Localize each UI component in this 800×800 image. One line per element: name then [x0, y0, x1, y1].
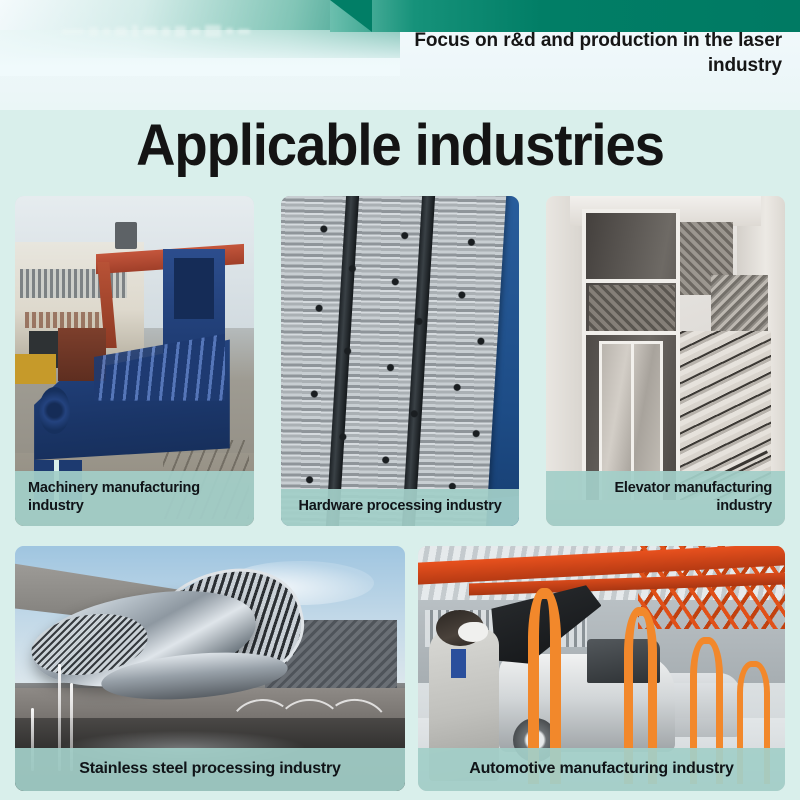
industry-card-stainless-steel[interactable]: Stainless steel processing industry [15, 546, 405, 791]
industry-card-hardware[interactable]: Hardware processing industry [281, 196, 520, 526]
industry-card-row-bottom: Stainless steel processing industry Auto… [15, 546, 785, 791]
page-header: Focus on r&d and production in the laser… [0, 0, 800, 110]
header-tagline: Focus on r&d and production in the laser… [352, 28, 782, 78]
industry-card-caption: Machinery manufacturing industry [15, 471, 254, 526]
page-title: Applicable industries [24, 114, 776, 178]
industry-card-caption: Automotive manufacturing industry [418, 748, 785, 791]
industry-card-automotive[interactable]: Automotive manufacturing industry [418, 546, 785, 791]
industry-card-row-top: Machinery manufacturing industry Hardwar… [15, 196, 785, 526]
industry-card-caption: Stainless steel processing industry [15, 748, 405, 791]
industry-card-caption: Elevator manufacturing industry [546, 471, 785, 526]
industry-card-machinery[interactable]: Machinery manufacturing industry [15, 196, 254, 526]
hardware-photo [281, 196, 520, 526]
industry-card-elevator[interactable]: Elevator manufacturing industry [546, 196, 785, 526]
company-logotype-blurred [62, 20, 352, 42]
industry-card-caption: Hardware processing industry [281, 489, 520, 527]
